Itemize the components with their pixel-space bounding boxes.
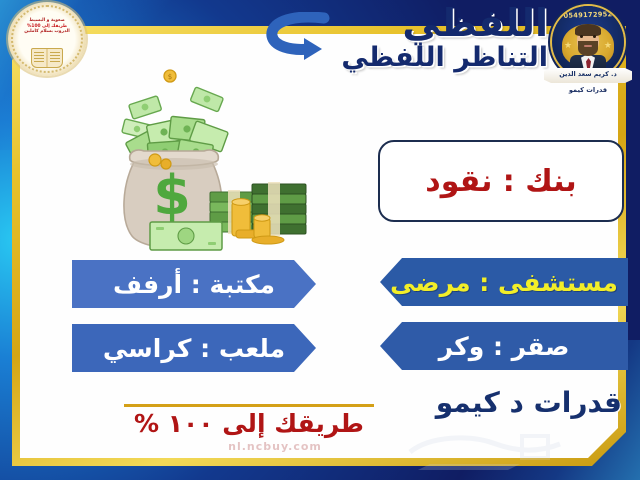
ornament-line-3: الدروب بسلام كاملين [8,29,86,35]
svg-text:$: $ [168,73,172,81]
arrow-banner-library-label: مكتبة : أرفف [72,270,316,299]
card-bank-label: بنك : نقود [425,164,576,199]
ornament-text: صعوبة و البسيط طريقك إلى 100% الدروب بسل… [8,18,86,35]
avatar-eye-left [580,35,583,38]
arrow-banner-hospital[interactable]: مستشفى : مرضى [380,258,628,306]
arrow-banner-library[interactable]: مكتبة : أرفف [72,260,316,308]
arrow-banner-field[interactable]: ملعب : كراسي [72,324,316,372]
badge-subtitle: قدرات كيمو [544,86,632,94]
footer-tagline: طريقك إلى ١٠٠ % [124,409,374,438]
arrow-banner-field-label: ملعب : كراسي [72,334,316,363]
avatar-beard [578,41,598,56]
ornament-seal-logo: صعوبة و البسيط طريقك إلى 100% الدروب بسل… [8,2,86,76]
money-bag-illustration: $ $ [92,34,322,254]
watermark-text: nl.ncbuy.com [170,440,380,453]
arrow-banner-hospital-label: مستشفى : مرضى [380,268,628,297]
tagline-rule [124,404,374,407]
badge-phone-number: 0549172952 [552,10,624,21]
footer-brand: قدرات د كيمو [362,386,622,419]
avatar-hair [575,24,601,36]
footer-tagline-wrap: طريقك إلى ١٠٠ % [124,404,374,438]
poster-canvas: صعوبة و البسيط طريقك إلى 100% الدروب بسل… [0,0,640,480]
arrow-banner-falcon[interactable]: صقر : وكر [380,322,628,370]
star-icon-right: ★ [604,42,612,51]
arrow-banner-falcon-label: صقر : وكر [380,332,628,361]
badge-circle: 0549172952 ★ ★ [552,6,624,78]
avatar-eye-right [593,35,596,38]
instructor-badge: 0549172952 ★ ★ د. كريم سعد الدين قدرات ك… [544,0,632,102]
open-book-icon [31,48,63,68]
star-icon-left: ★ [564,42,572,51]
svg-text:$: $ [153,164,191,227]
badge-instructor-name: د. كريم سعد الدين [544,70,632,78]
avatar-mouth [584,45,592,47]
card-bank[interactable]: بنك : نقود [378,140,624,222]
